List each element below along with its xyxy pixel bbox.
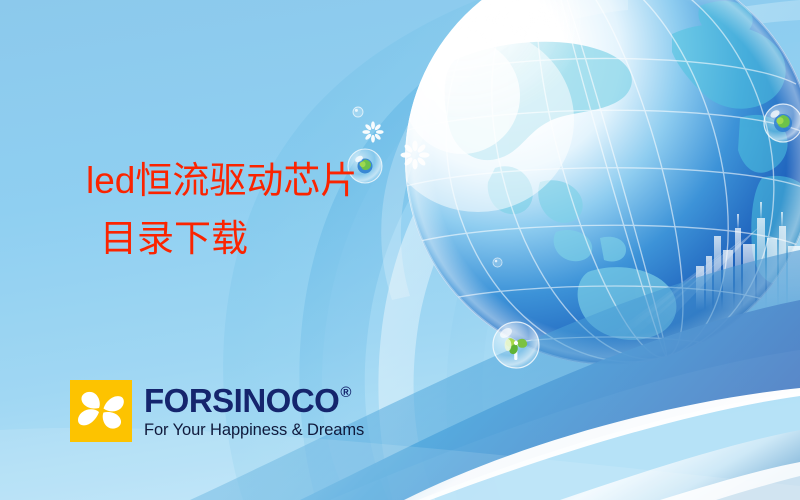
logo-text-block: FORSINOCO ® For Your Happiness & Dreams — [144, 384, 364, 439]
logo-tagline: For Your Happiness & Dreams — [144, 422, 364, 439]
headline-line-2: 目录下载 — [100, 220, 357, 257]
headline-text: led恒流驱动芯片 目录下载 — [86, 162, 357, 257]
bubble-globe-leaf-icon — [760, 100, 800, 146]
logo-wordmark: FORSINOCO ® — [144, 384, 364, 417]
headline-line-1: led恒流驱动芯片 — [86, 162, 357, 199]
four-petal-pinwheel-icon — [70, 380, 132, 442]
snowflake-icon — [400, 140, 430, 170]
globe-graphic — [370, 0, 800, 401]
logo-wordmark-text: FORSINOCO — [144, 384, 339, 417]
snowflake-icon — [362, 121, 384, 143]
logo-mark-pinwheel — [70, 380, 132, 442]
registered-trademark-icon: ® — [340, 385, 351, 400]
bubble-windmill-icon — [489, 318, 543, 372]
company-logo: FORSINOCO ® For Your Happiness & Dreams — [70, 380, 364, 442]
ribbon-swooshes — [190, 250, 800, 500]
banner-canvas: led恒流驱动芯片 目录下载 FORSINOCO ® — [0, 0, 800, 500]
bubble-small-icon — [352, 106, 364, 118]
cityscape-silhouette — [612, 202, 800, 342]
bubble-small-icon — [492, 257, 503, 268]
